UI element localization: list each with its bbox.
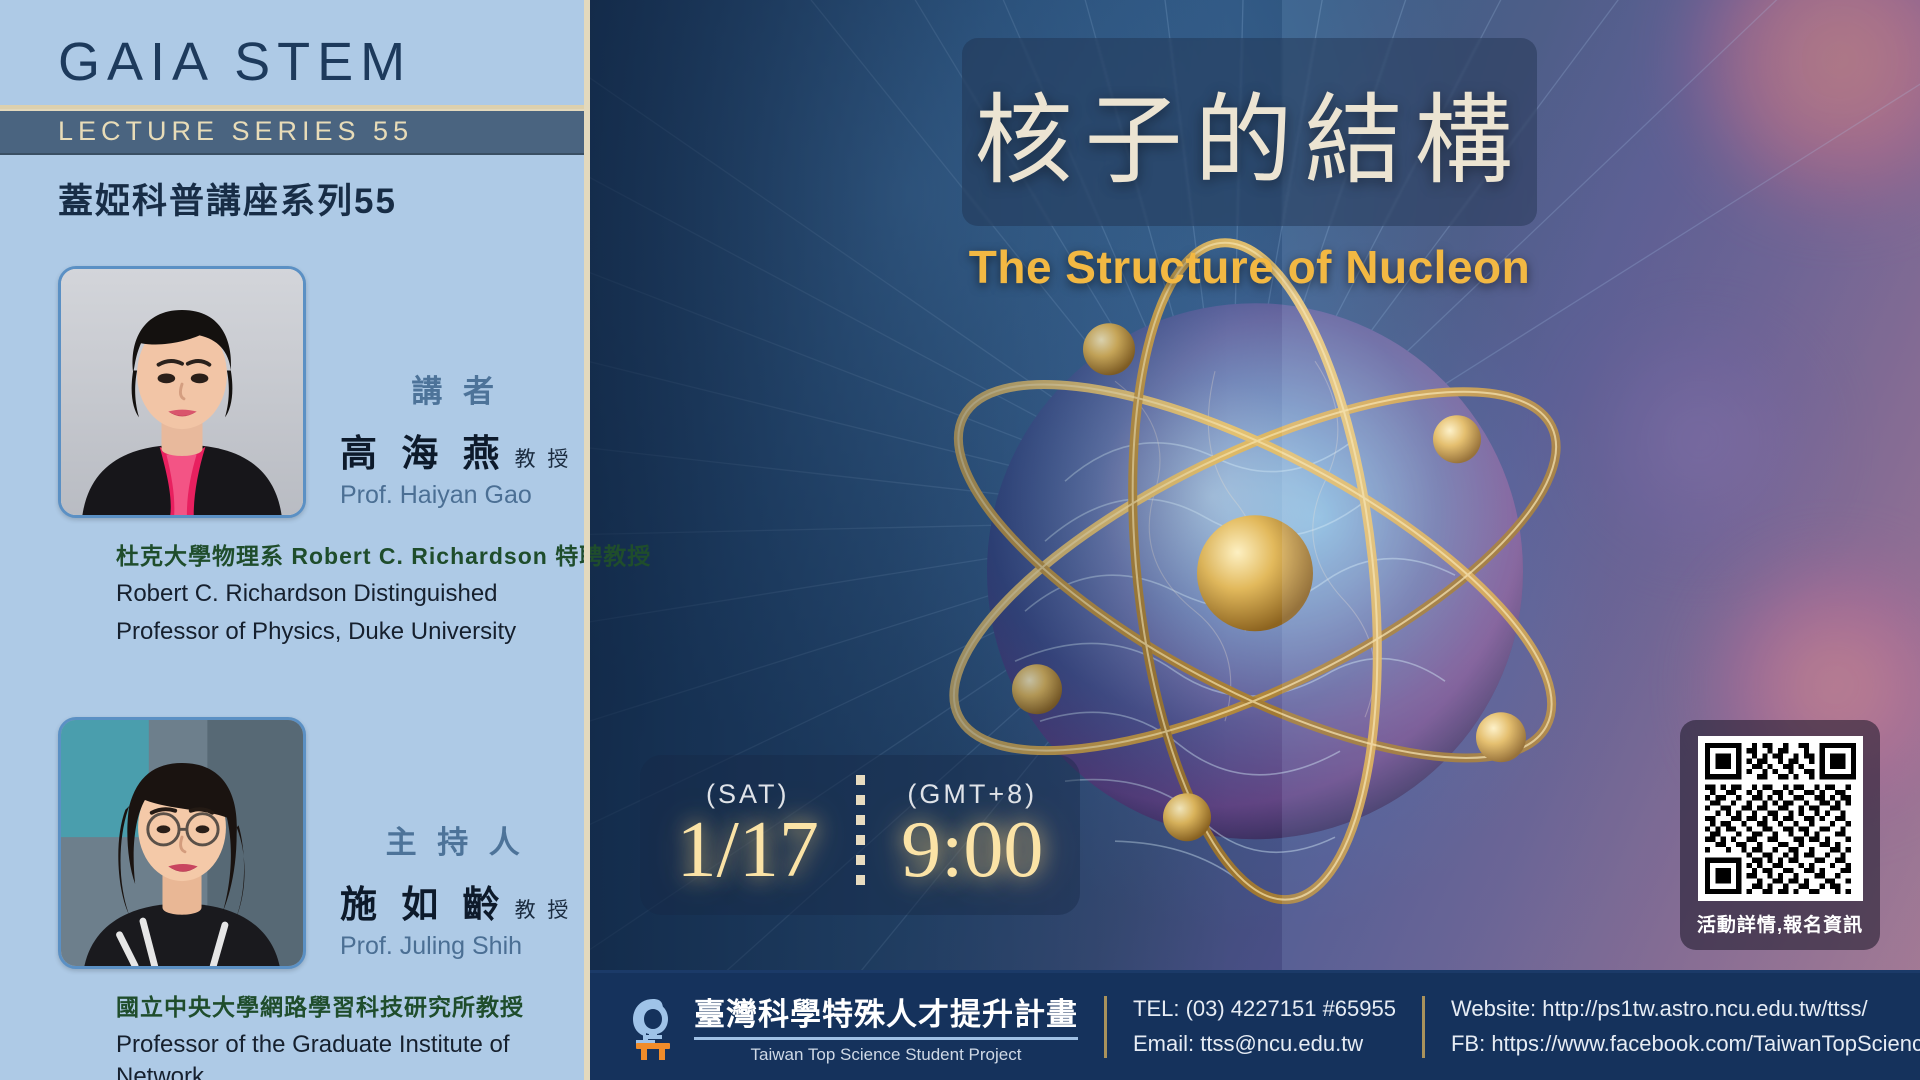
contact-email[interactable]: Email: ttss@ncu.edu.tw — [1133, 1027, 1396, 1061]
moderator-block: 主 持 人 施 如 齡 教 授 Prof. Juling Shih 國立中央大學… — [0, 717, 590, 1080]
project-name-cn: 臺灣科學特殊人才提升計畫 — [694, 989, 1078, 1040]
page-title: GAIA STEM — [58, 34, 590, 91]
footer-divider-2 — [1422, 996, 1425, 1058]
series-label: LECTURE SERIES 55 — [58, 116, 413, 147]
poster-root: GAIA STEM LECTURE SERIES 55 蓋婭科普講座系列55 — [0, 0, 1920, 1080]
moderator-text: 主 持 人 施 如 齡 教 授 Prof. Juling Shih — [340, 817, 571, 969]
speaker-affil-cn: 杜克大學物理系 Robert C. Richardson 特聘教授 — [116, 540, 590, 572]
speaker-role: 講 者 — [340, 366, 571, 411]
sidebar: GAIA STEM LECTURE SERIES 55 蓋婭科普講座系列55 — [0, 0, 590, 1080]
title-panel: 核子的結構 — [962, 38, 1537, 226]
contact-block: TEL: (03) 4227151 #65955 Email: ttss@ncu… — [1133, 992, 1396, 1060]
speaker-affil-en-1: Robert C. Richardson Distinguished — [116, 578, 590, 610]
main-panel: 核子的結構 The Structure of Nucleon (SAT) 1/1… — [590, 0, 1920, 1080]
moderator-affiliation: 國立中央大學網路學習科技研究所教授 Professor of the Gradu… — [58, 991, 590, 1080]
date-value: 1/17 — [677, 808, 819, 892]
speaker-name-cn: 高 海 燕 — [340, 423, 507, 477]
moderator-name-suffix: 教 授 — [515, 894, 572, 924]
footer-bar: 臺灣科學特殊人才提升計畫 Taiwan Top Science Student … — [590, 970, 1920, 1080]
qr-code-icon[interactable] — [1698, 736, 1863, 901]
time-value: 9:00 — [901, 808, 1043, 892]
lecture-title-en: The Structure of Nucleon — [962, 240, 1537, 294]
speaker-text: 講 者 高 海 燕 教 授 Prof. Haiyan Gao — [340, 366, 571, 518]
date-column: (SAT) 1/17 — [640, 779, 856, 892]
speaker-affiliation: 杜克大學物理系 Robert C. Richardson 特聘教授 Robert… — [58, 540, 590, 649]
link-website[interactable]: Website: http://ps1tw.astro.ncu.edu.tw/t… — [1451, 992, 1920, 1026]
brand-block: GAIA STEM LECTURE SERIES 55 蓋婭科普講座系列55 — [0, 0, 590, 224]
speaker-affil-en-2: Professor of Physics, Duke University — [116, 616, 590, 648]
time-column: (GMT+8) 9:00 — [865, 779, 1081, 892]
speaker-name-en: Prof. Haiyan Gao — [340, 481, 571, 510]
moderator-name-cn: 施 如 齡 — [340, 874, 507, 928]
speaker-name-suffix: 教 授 — [515, 443, 572, 473]
moderator-role: 主 持 人 — [340, 817, 571, 862]
footer-divider-1 — [1104, 996, 1107, 1058]
time-zone: (GMT+8) — [907, 779, 1037, 810]
lecture-title-cn: 核子的結構 — [974, 61, 1524, 203]
omega-pi-icon — [624, 994, 682, 1060]
moderator-affil-en-1: Professor of the Graduate Institute of N… — [116, 1029, 590, 1080]
date-weekday: (SAT) — [706, 779, 790, 810]
link-facebook[interactable]: FB: https://www.facebook.com/TaiwanTopSc… — [1451, 1027, 1920, 1061]
project-logo: 臺灣科學特殊人才提升計畫 Taiwan Top Science Student … — [624, 989, 1078, 1065]
contact-tel: TEL: (03) 4227151 #65955 — [1133, 992, 1396, 1026]
qr-caption: 活動詳情,報名資訊 — [1697, 910, 1863, 937]
moderator-name-en: Prof. Juling Shih — [340, 932, 571, 961]
moderator-photo — [58, 717, 306, 969]
datetime-panel: (SAT) 1/17 (GMT+8) 9:00 — [640, 755, 1080, 915]
qr-panel[interactable]: 活動詳情,報名資訊 — [1680, 720, 1880, 950]
project-name-en: Taiwan Top Science Student Project — [694, 1045, 1078, 1065]
speaker-photo — [58, 266, 306, 518]
links-block: Website: http://ps1tw.astro.ncu.edu.tw/t… — [1451, 992, 1920, 1060]
moderator-affil-cn: 國立中央大學網路學習科技研究所教授 — [116, 991, 590, 1023]
series-label-cn: 蓋婭科普講座系列55 — [58, 173, 590, 224]
dotted-divider — [856, 775, 865, 895]
speaker-block: 講 者 高 海 燕 教 授 Prof. Haiyan Gao 杜克大學物理系 R… — [0, 266, 590, 649]
series-bar: LECTURE SERIES 55 — [0, 109, 590, 155]
